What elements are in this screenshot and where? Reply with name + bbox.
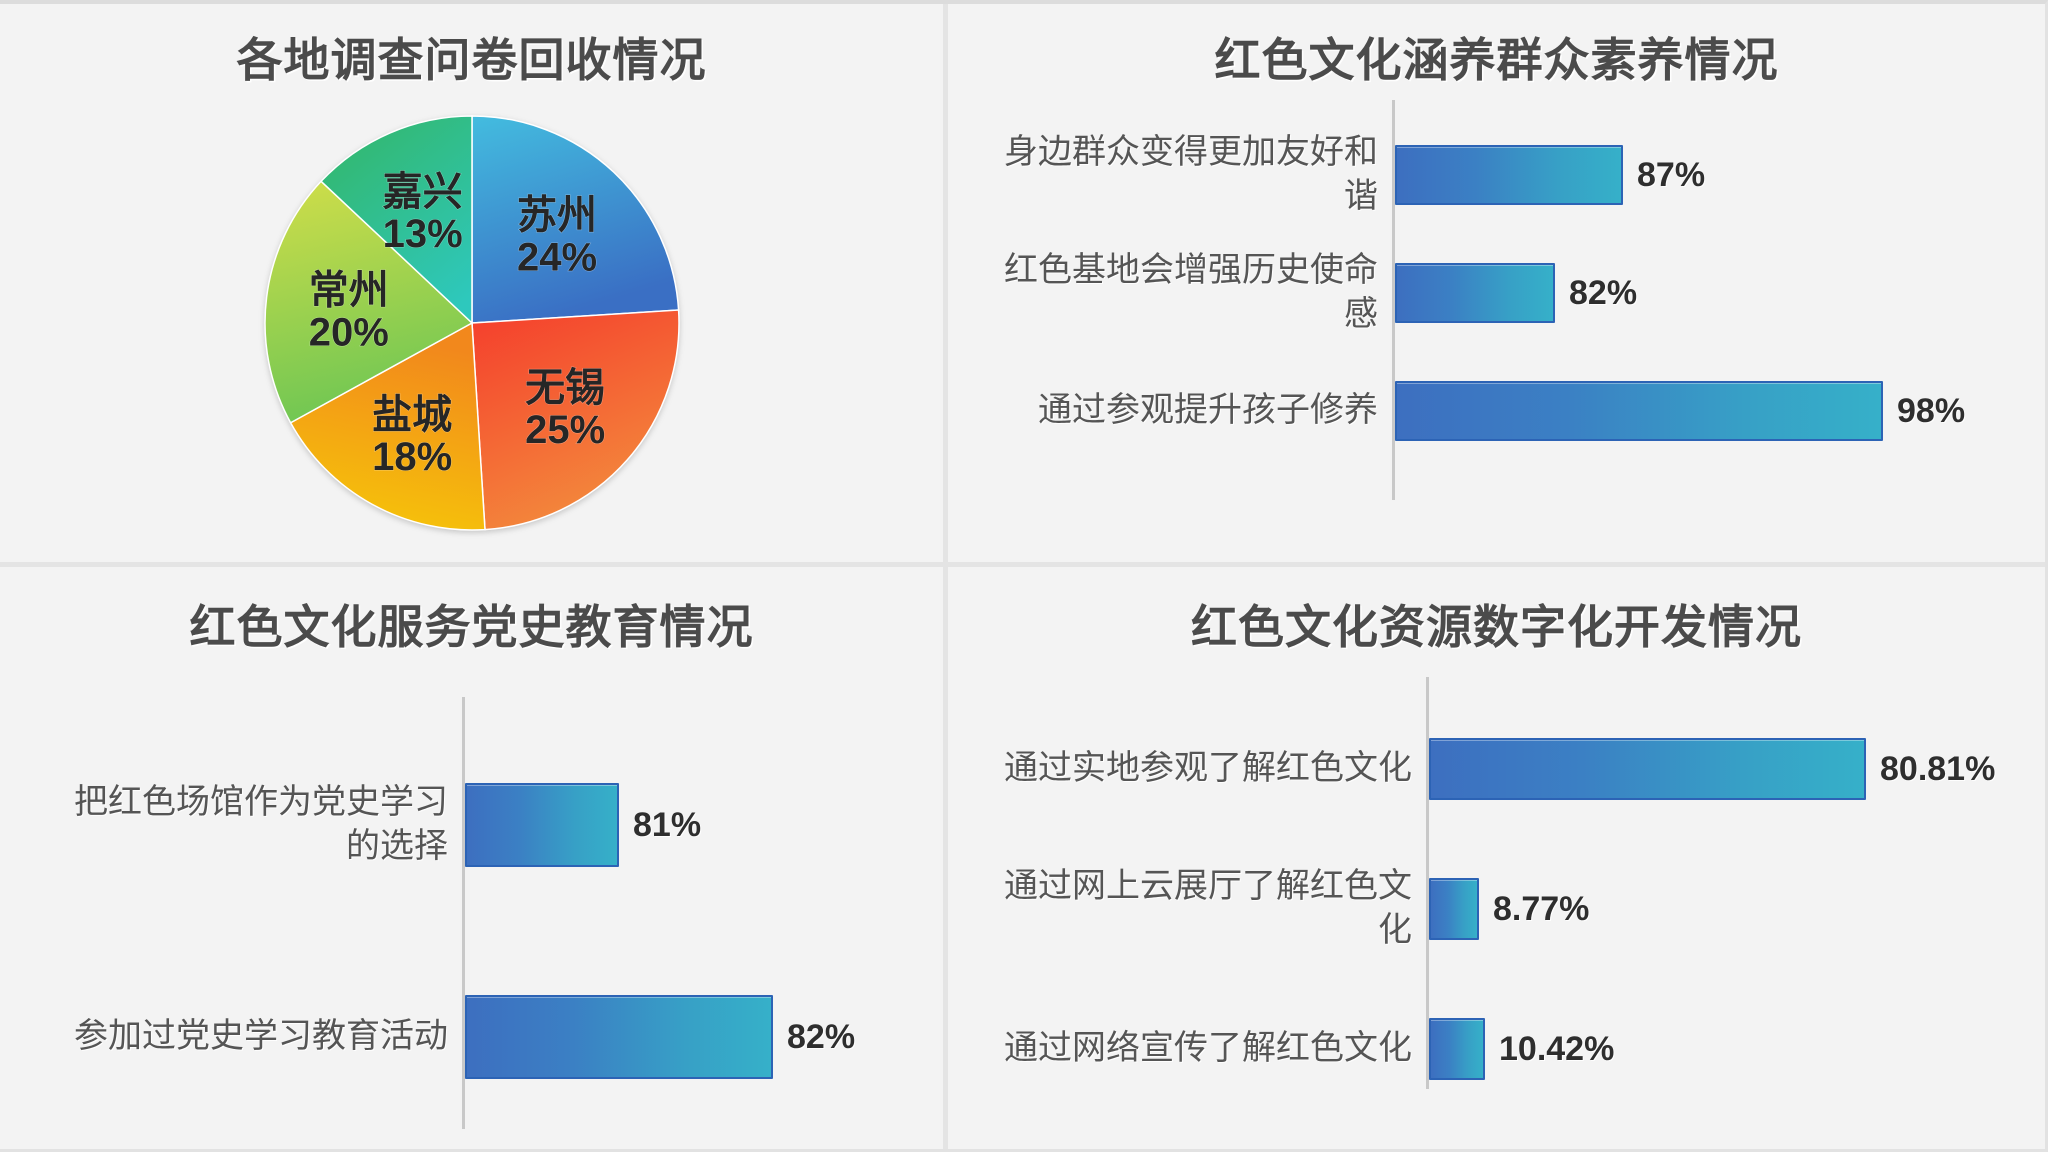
category-axis-line — [1392, 100, 1395, 500]
category-axis-line — [462, 697, 465, 1129]
panel-questionnaire-recovery: 各地调查问卷回收情况 — [0, 4, 948, 567]
topright-bar-chart: 身边群众变得更加友好和谐87%红色基地会增强历史使命感82%通过参观提升孩子修养… — [948, 116, 2045, 470]
topright-chart-title: 红色文化涵养群众素养情况 — [948, 4, 2045, 90]
pie-chart-title: 各地调查问卷回收情况 — [0, 4, 943, 90]
bar-fill[interactable] — [1395, 381, 1883, 441]
bar-category-label: 身边群众变得更加友好和谐 — [1004, 131, 1392, 218]
bar-category-label: 通过网络宣传了解红色文化 — [976, 1027, 1426, 1071]
bar-category-label: 把红色场馆作为党史学习 的选择 — [10, 781, 462, 868]
bar-value-label: 8.77% — [1493, 890, 1589, 929]
bottomright-chart-title: 红色文化资源数字化开发情况 — [948, 567, 2045, 657]
pie-chart-container: 苏州24%无锡25%盐城18%常州20%嘉兴13% — [0, 108, 943, 538]
bar-fill[interactable] — [1429, 878, 1479, 940]
bar-value-label: 98% — [1897, 392, 1965, 431]
bar-row: 通过实地参观了解红色文化80.81% — [976, 699, 2035, 839]
bar-value-label: 87% — [1637, 156, 1705, 195]
bottomright-bar-chart: 通过实地参观了解红色文化80.81%通过网上云展厅了解红色文 化8.77%通过网… — [948, 699, 2045, 1119]
pie-slice-percent: 24% — [516, 235, 596, 279]
bar-value-label: 80.81% — [1880, 750, 1995, 789]
bar-category-label: 参加过党史学习教育活动 — [10, 1015, 462, 1059]
chart-grid: 各地调查问卷回收情况 — [0, 4, 2045, 1149]
bar-fill[interactable] — [1429, 738, 1866, 800]
bar-row: 通过参观提升孩子修养98% — [1004, 352, 2035, 470]
bar-category-label: 通过参观提升孩子修养 — [1004, 389, 1392, 433]
category-axis-line — [1426, 677, 1429, 1089]
bar-fill[interactable] — [465, 783, 619, 867]
pie-slice-percent: 20% — [308, 310, 388, 354]
bar-track: 81% — [465, 783, 933, 867]
panel-digital-resources: 红色文化资源数字化开发情况 通过实地参观了解红色文化80.81%通过网上云展厅了… — [948, 567, 2045, 1149]
bar-value-label: 82% — [1569, 274, 1637, 313]
bar-fill[interactable] — [1395, 145, 1623, 205]
pie-chart: 苏州24%无锡25%盐城18%常州20%嘉兴13% — [257, 108, 687, 538]
pie-slice-name: 盐城 — [372, 393, 452, 437]
bar-row: 参加过党史学习教育活动82% — [10, 931, 933, 1143]
bar-track: 10.42% — [1429, 1018, 2035, 1080]
pie-slice-name: 苏州 — [517, 193, 597, 237]
bar-track: 82% — [465, 995, 933, 1079]
pie-slice-name: 无锡 — [525, 366, 605, 410]
bar-value-label: 82% — [787, 1018, 855, 1057]
bar-category-label: 通过实地参观了解红色文化 — [976, 747, 1426, 791]
bar-value-label: 81% — [633, 806, 701, 845]
bar-fill[interactable] — [465, 995, 773, 1079]
bar-track: 98% — [1395, 381, 2035, 441]
pie-slice-percent: 18% — [372, 435, 452, 479]
bar-value-label: 10.42% — [1499, 1030, 1614, 1069]
panel-culture-literacy: 红色文化涵养群众素养情况 身边群众变得更加友好和谐87%红色基地会增强历史使命感… — [948, 4, 2045, 567]
bar-track: 80.81% — [1429, 738, 2035, 800]
bar-row: 身边群众变得更加友好和谐87% — [1004, 116, 2035, 234]
bar-fill[interactable] — [1395, 263, 1555, 323]
pie-slice-percent: 25% — [525, 408, 605, 452]
bar-row: 通过网上云展厅了解红色文 化8.77% — [976, 839, 2035, 979]
bar-category-label: 通过网上云展厅了解红色文 化 — [976, 865, 1426, 952]
bar-track: 8.77% — [1429, 878, 2035, 940]
bar-category-label: 红色基地会增强历史使命感 — [1004, 249, 1392, 336]
bar-row: 通过网络宣传了解红色文化10.42% — [976, 979, 2035, 1119]
bar-row: 红色基地会增强历史使命感82% — [1004, 234, 2035, 352]
bar-fill[interactable] — [1429, 1018, 1485, 1080]
pie-slice-percent: 13% — [382, 212, 462, 256]
pie-slice-name: 嘉兴 — [382, 170, 462, 214]
dashboard-root: 各地调查问卷回收情况 — [0, 0, 2048, 1152]
pie-slice-name: 常州 — [308, 268, 388, 312]
bar-track: 87% — [1395, 145, 2035, 205]
panel-party-history-education: 红色文化服务党史教育情况 把红色场馆作为党史学习 的选择81%参加过党史学习教育… — [0, 567, 948, 1149]
bottomleft-chart-title: 红色文化服务党史教育情况 — [0, 567, 943, 657]
bottomleft-bar-chart: 把红色场馆作为党史学习 的选择81%参加过党史学习教育活动82% — [0, 719, 943, 1143]
bar-row: 把红色场馆作为党史学习 的选择81% — [10, 719, 933, 931]
bar-track: 82% — [1395, 263, 2035, 323]
